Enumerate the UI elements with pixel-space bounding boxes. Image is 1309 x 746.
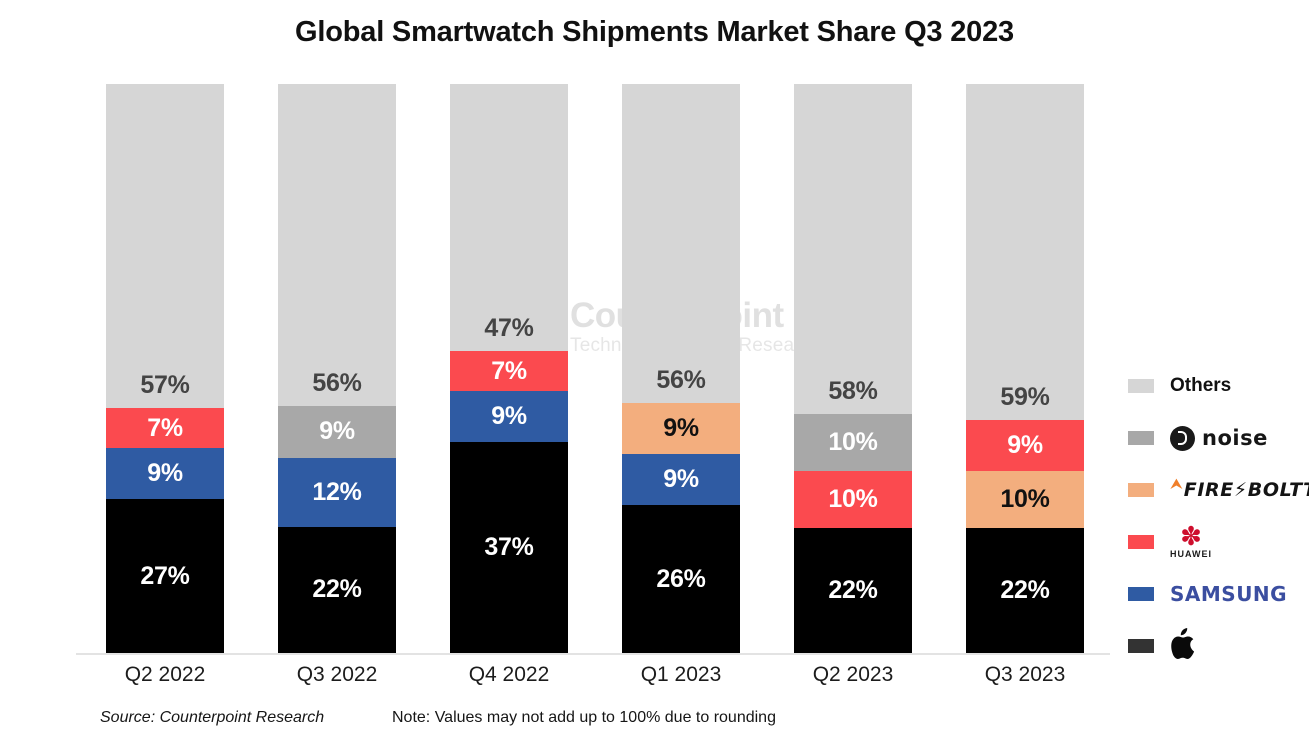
legend-label-huawei: ✽HUAWEI	[1170, 525, 1212, 559]
fireboltt-wordmark: FIRE⚡BOLTT	[1184, 479, 1309, 501]
legend-item-samsung[interactable]: SAMSUNG	[1128, 568, 1303, 620]
segment-value-label: 56%	[278, 371, 396, 396]
bar-segment-others[interactable]: 57%	[106, 84, 224, 408]
bar-segment-huawei[interactable]: 7%	[106, 408, 224, 448]
segment-value-label: 9%	[319, 419, 355, 444]
bar-column[interactable]: 57%7%9%27%	[106, 84, 224, 653]
segment-value-label: 7%	[491, 359, 527, 384]
plot-area: 57%7%9%27%56%9%12%22%47%7%9%37%56%9%9%26…	[0, 84, 1110, 653]
bar-segment-fire-boltt[interactable]: 10%	[966, 471, 1084, 528]
segment-value-label: 9%	[663, 416, 699, 441]
segment-value-label: 9%	[491, 404, 527, 429]
segment-value-label: 10%	[828, 487, 877, 512]
flame-icon: ⮝	[1170, 476, 1183, 493]
bar-segment-apple[interactable]: 27%	[106, 499, 224, 653]
bar-segment-others[interactable]: 59%	[966, 84, 1084, 420]
x-axis-tick-label: Q4 2022	[450, 663, 568, 687]
bar-segment-samsung[interactable]: 12%	[278, 458, 396, 527]
segment-value-label: 7%	[147, 416, 183, 441]
chart-container: Global Smartwatch Shipments Market Share…	[0, 0, 1309, 746]
bar-segment-samsung[interactable]: 9%	[106, 448, 224, 499]
x-axis-tick-label: Q2 2023	[794, 663, 912, 687]
legend-item-fireboltt[interactable]: ⮝FIRE⚡BOLTT	[1128, 464, 1303, 516]
bar-segment-huawei[interactable]: 7%	[450, 351, 568, 391]
segment-value-label: 9%	[1007, 433, 1043, 458]
segment-value-label: 22%	[828, 578, 877, 603]
noise-wordmark: noise	[1202, 426, 1268, 450]
legend-swatch-samsung	[1128, 587, 1154, 601]
legend-text: Others	[1170, 375, 1231, 397]
bar-segment-apple[interactable]: 22%	[278, 527, 396, 653]
bar-column[interactable]: 56%9%9%26%	[622, 84, 740, 653]
legend-swatch-apple	[1128, 639, 1154, 653]
legend-swatch-fireboltt	[1128, 483, 1154, 497]
segment-value-label: 37%	[484, 535, 533, 560]
chart-legend: Othersnoise⮝FIRE⚡BOLTT✽HUAWEISAMSUNG	[1128, 360, 1303, 672]
huawei-flower-icon: ✽	[1180, 525, 1202, 548]
segment-value-label: 58%	[794, 379, 912, 404]
huawei-wordmark: HUAWEI	[1170, 549, 1212, 559]
bar-segment-apple[interactable]: 22%	[966, 528, 1084, 653]
x-axis-labels: Q2 2022Q3 2022Q4 2022Q1 2023Q2 2023Q3 20…	[106, 663, 1084, 687]
segment-value-label: 47%	[450, 316, 568, 341]
segment-value-label: 9%	[663, 467, 699, 492]
bar-segment-noise[interactable]: 9%	[278, 406, 396, 458]
x-axis-tick-label: Q1 2023	[622, 663, 740, 687]
legend-label-samsung: SAMSUNG	[1170, 582, 1287, 606]
bar-segment-others[interactable]: 47%	[450, 84, 568, 351]
huawei-logo-icon: ✽HUAWEI	[1170, 525, 1212, 559]
segment-value-label: 26%	[656, 567, 705, 592]
bar-segment-noise[interactable]: 10%	[794, 414, 912, 471]
segment-value-label: 9%	[147, 461, 183, 486]
bar-segment-samsung[interactable]: 9%	[450, 391, 568, 442]
bar-column[interactable]: 56%9%12%22%	[278, 84, 396, 653]
x-axis-tick-label: Q3 2022	[278, 663, 396, 687]
stacked-bars: 57%7%9%27%56%9%12%22%47%7%9%37%56%9%9%26…	[106, 84, 1084, 653]
segment-value-label: 56%	[622, 368, 740, 393]
legend-label-fireboltt: ⮝FIRE⚡BOLTT	[1170, 479, 1309, 501]
bar-column[interactable]: 59%9%10%22%	[966, 84, 1084, 653]
bar-segment-others[interactable]: 56%	[278, 84, 396, 406]
bar-segment-huawei[interactable]: 10%	[794, 471, 912, 528]
bar-segment-others[interactable]: 58%	[794, 84, 912, 414]
bar-segment-others[interactable]: 56%	[622, 84, 740, 403]
bar-segment-apple[interactable]: 37%	[450, 442, 568, 653]
legend-label-others: Others	[1170, 375, 1231, 397]
segment-value-label: 57%	[106, 373, 224, 398]
legend-item-apple[interactable]	[1128, 620, 1303, 672]
x-axis-tick-label: Q3 2023	[966, 663, 1084, 687]
segment-value-label: 22%	[312, 577, 361, 602]
x-axis-line	[76, 653, 1110, 655]
segment-value-label: 22%	[1000, 578, 1049, 603]
apple-logo-icon	[1170, 628, 1196, 665]
bar-segment-huawei[interactable]: 9%	[966, 420, 1084, 471]
legend-item-noise[interactable]: noise	[1128, 412, 1303, 464]
source-note: Source: Counterpoint Research	[100, 709, 324, 727]
segment-value-label: 27%	[140, 564, 189, 589]
legend-item-huawei[interactable]: ✽HUAWEI	[1128, 516, 1303, 568]
segment-value-label: 10%	[828, 430, 877, 455]
legend-swatch-others	[1128, 379, 1154, 393]
bar-column[interactable]: 58%10%10%22%	[794, 84, 912, 653]
segment-value-label: 59%	[966, 385, 1084, 410]
legend-swatch-huawei	[1128, 535, 1154, 549]
bar-segment-samsung[interactable]: 9%	[622, 454, 740, 505]
legend-label-apple	[1170, 628, 1196, 665]
bar-segment-fire-boltt[interactable]: 9%	[622, 403, 740, 454]
noise-logo-icon	[1170, 426, 1195, 451]
page-title: Global Smartwatch Shipments Market Share…	[0, 16, 1309, 49]
x-axis-tick-label: Q2 2022	[106, 663, 224, 687]
segment-value-label: 12%	[312, 480, 361, 505]
segment-value-label: 10%	[1000, 487, 1049, 512]
bar-segment-apple[interactable]: 22%	[794, 528, 912, 653]
legend-swatch-noise	[1128, 431, 1154, 445]
samsung-wordmark: SAMSUNG	[1170, 582, 1287, 606]
bar-column[interactable]: 47%7%9%37%	[450, 84, 568, 653]
legend-item-others[interactable]: Others	[1128, 360, 1303, 412]
rounding-note: Note: Values may not add up to 100% due …	[392, 709, 776, 727]
bar-segment-apple[interactable]: 26%	[622, 505, 740, 653]
legend-label-noise: noise	[1170, 426, 1268, 451]
